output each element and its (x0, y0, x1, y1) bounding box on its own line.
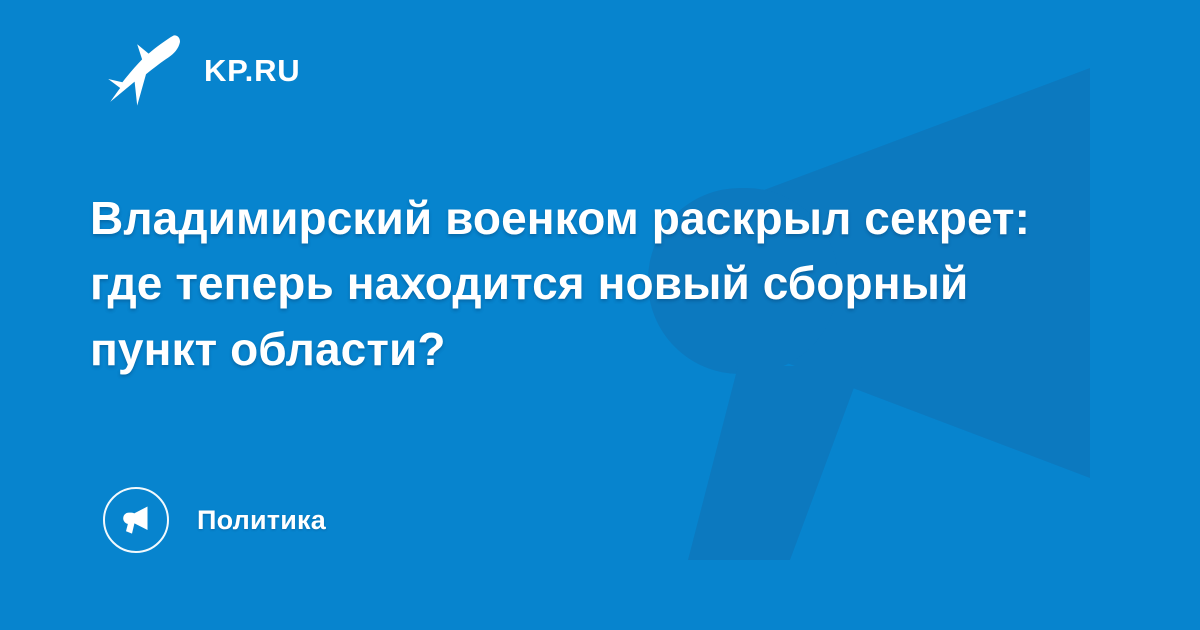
page-title: Владимирский военком раскрыл секрет: где… (90, 186, 1050, 382)
megaphone-icon-circle (103, 487, 169, 553)
megaphone-icon (119, 503, 153, 537)
category-label: Политика (197, 507, 326, 534)
swallow-bird-icon (104, 34, 182, 106)
category-badge[interactable]: Политика (103, 487, 326, 553)
brand-wordmark: KP.RU (204, 55, 300, 86)
social-share-card: KP.RU Владимирский военком раскрыл секре… (0, 0, 1200, 630)
brand-logo[interactable]: KP.RU (104, 34, 300, 106)
